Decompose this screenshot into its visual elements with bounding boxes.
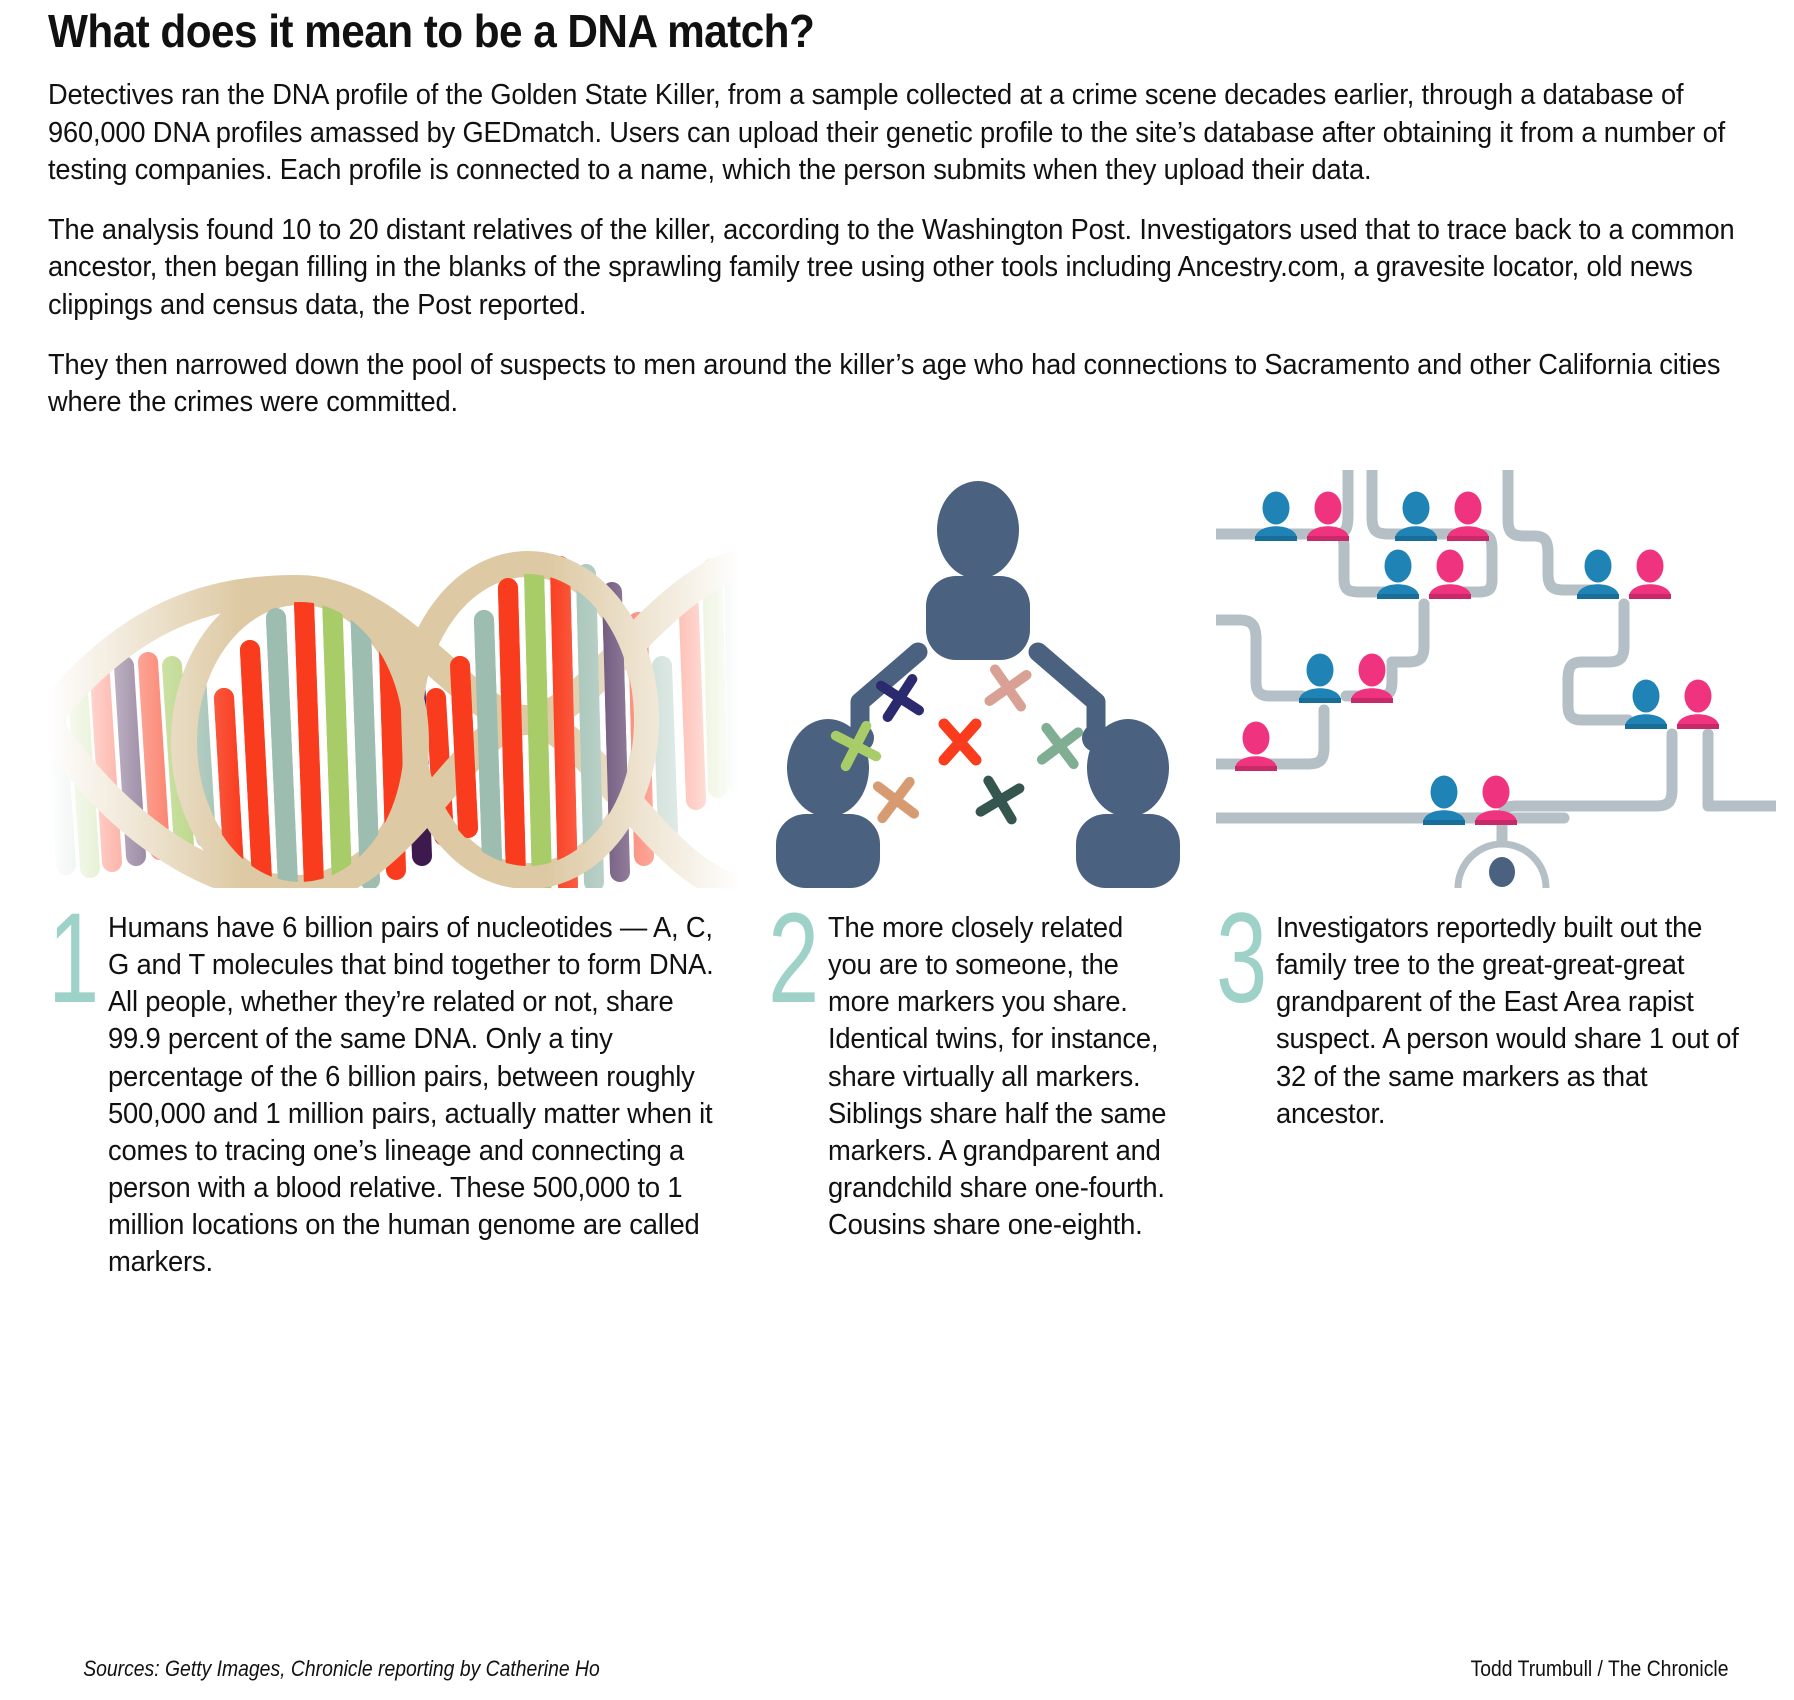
caption-3: 3 Investigators reportedly built out the… <box>1216 910 1776 1133</box>
author-credit: Todd Trumbull / The Chronicle <box>1471 1656 1729 1682</box>
caption-text-2: The more closely related you are to some… <box>828 910 1174 1245</box>
sources-credit: Sources: Getty Images, Chronicle reporti… <box>83 1656 600 1682</box>
intro-paragraph-1: Detectives ran the DNA profile of the Go… <box>48 77 1743 190</box>
intro-text: Detectives ran the DNA profile of the Go… <box>48 77 1746 422</box>
intro-paragraph-2: The analysis found 10 to 20 distant rela… <box>48 212 1743 325</box>
panel-dna: 1 Humans have 6 billion pairs of nucleot… <box>48 470 740 1330</box>
panel-markers: 2 The more closely related you are to so… <box>768 470 1188 1330</box>
footer: Sources: Getty Images, Chronicle reporti… <box>48 1656 1746 1682</box>
page-title: What does it mean to be a DNA match? <box>48 0 1610 55</box>
caption-1: 1 Humans have 6 billion pairs of nucleot… <box>48 910 740 1282</box>
dna-double-helix-illustration <box>48 470 740 888</box>
infographic-page: What does it mean to be a DNA match? Det… <box>0 0 1794 1700</box>
three-people-sharing-chromosomes-illustration <box>768 470 1188 888</box>
panel-row: 1 Humans have 6 billion pairs of nucleot… <box>48 470 1746 1330</box>
caption-2: 2 The more closely related you are to so… <box>768 910 1188 1245</box>
family-tree-illustration <box>1216 470 1776 888</box>
intro-paragraph-3: They then narrowed down the pool of susp… <box>48 347 1743 422</box>
step-number-2: 2 <box>768 912 811 1007</box>
caption-text-3: Investigators reportedly built out the f… <box>1276 910 1756 1133</box>
step-number-1: 1 <box>48 912 91 1007</box>
step-number-3: 3 <box>1216 912 1259 1007</box>
caption-text-1: Humans have 6 billion pairs of nucleotid… <box>108 910 715 1282</box>
panel-family-tree: 3 Investigators reportedly built out the… <box>1216 470 1776 1330</box>
